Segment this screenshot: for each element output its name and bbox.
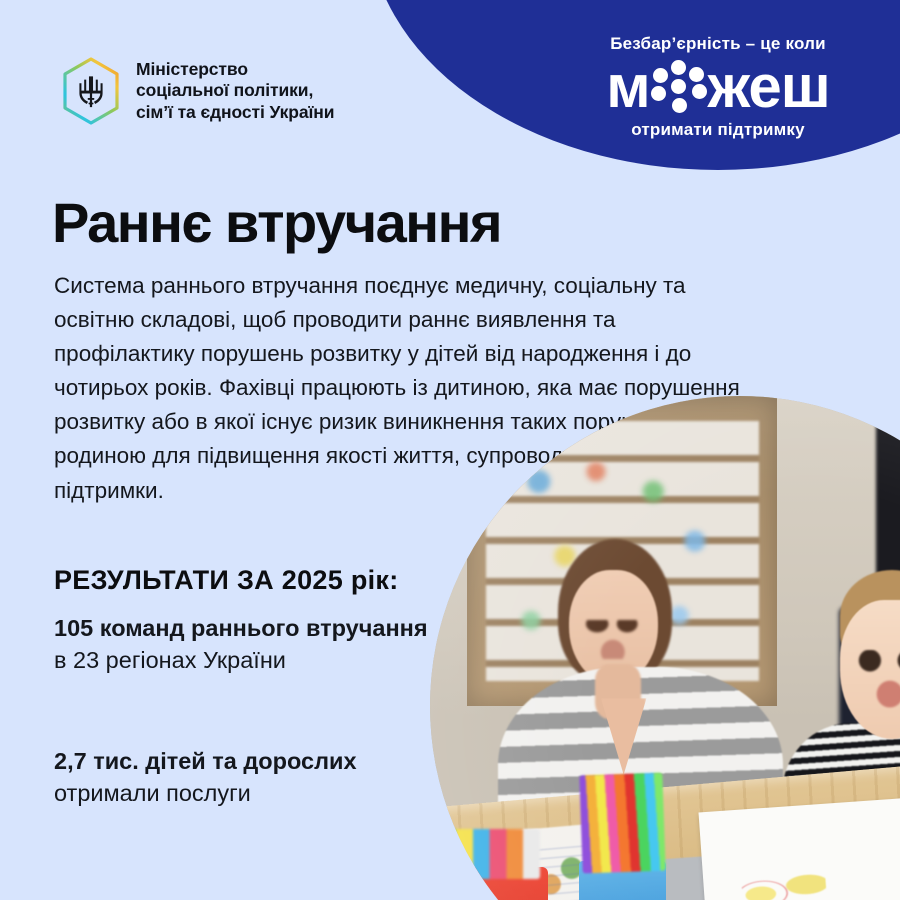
infographic-poster: Безбар’єрність – це коли м жеш отримати … xyxy=(0,0,900,900)
stat-item-teams: 105 команд раннього втручання в 23 регіо… xyxy=(54,612,434,677)
page-title: Раннє втручання xyxy=(52,194,501,253)
photo-boy-face xyxy=(840,600,900,738)
photo-red-marker-bucket xyxy=(430,867,548,900)
stat-beneficiaries-bold: 2,7 тис. дітей та дорослих xyxy=(54,748,357,774)
ukraine-trident-emblem-icon xyxy=(60,56,122,126)
stat-teams-bold: 105 команд раннього втручання xyxy=(54,615,428,641)
mozhesh-logo-suffix: жеш xyxy=(708,57,830,117)
badge-tagline-bottom: отримати підтримку xyxy=(631,120,805,140)
dot-cluster-icon xyxy=(651,60,707,114)
ministry-logo-lockup: Міністерство соціальної політики, сім’ї … xyxy=(60,56,334,126)
photo-blue-marker-cup xyxy=(579,861,666,900)
ministry-name: Міністерство соціальної політики, сім’ї … xyxy=(136,59,334,123)
photo-wall-poster xyxy=(876,396,900,576)
stat-item-beneficiaries: 2,7 тис. дітей та дорослих отримали посл… xyxy=(54,745,434,810)
results-heading: РЕЗУЛЬТАТИ ЗА 2025 рік: xyxy=(54,565,399,596)
badge-content: Безбар’єрність – це коли м жеш отримати … xyxy=(368,0,900,170)
bezbarjernist-badge-banner: Безбар’єрність – це коли м жеш отримати … xyxy=(368,0,900,170)
photo-drawing-sheet xyxy=(698,798,900,900)
mozhesh-logo-prefix: м xyxy=(606,57,649,117)
stat-beneficiaries-rest: отримали послуги xyxy=(54,780,251,806)
photo-scene xyxy=(430,396,900,900)
mozhesh-logo: м жеш xyxy=(606,56,830,118)
early-intervention-session-photo xyxy=(430,396,900,900)
badge-tagline-top: Безбар’єрність – це коли xyxy=(610,34,826,54)
stat-teams-rest: в 23 регіонах України xyxy=(54,647,286,673)
